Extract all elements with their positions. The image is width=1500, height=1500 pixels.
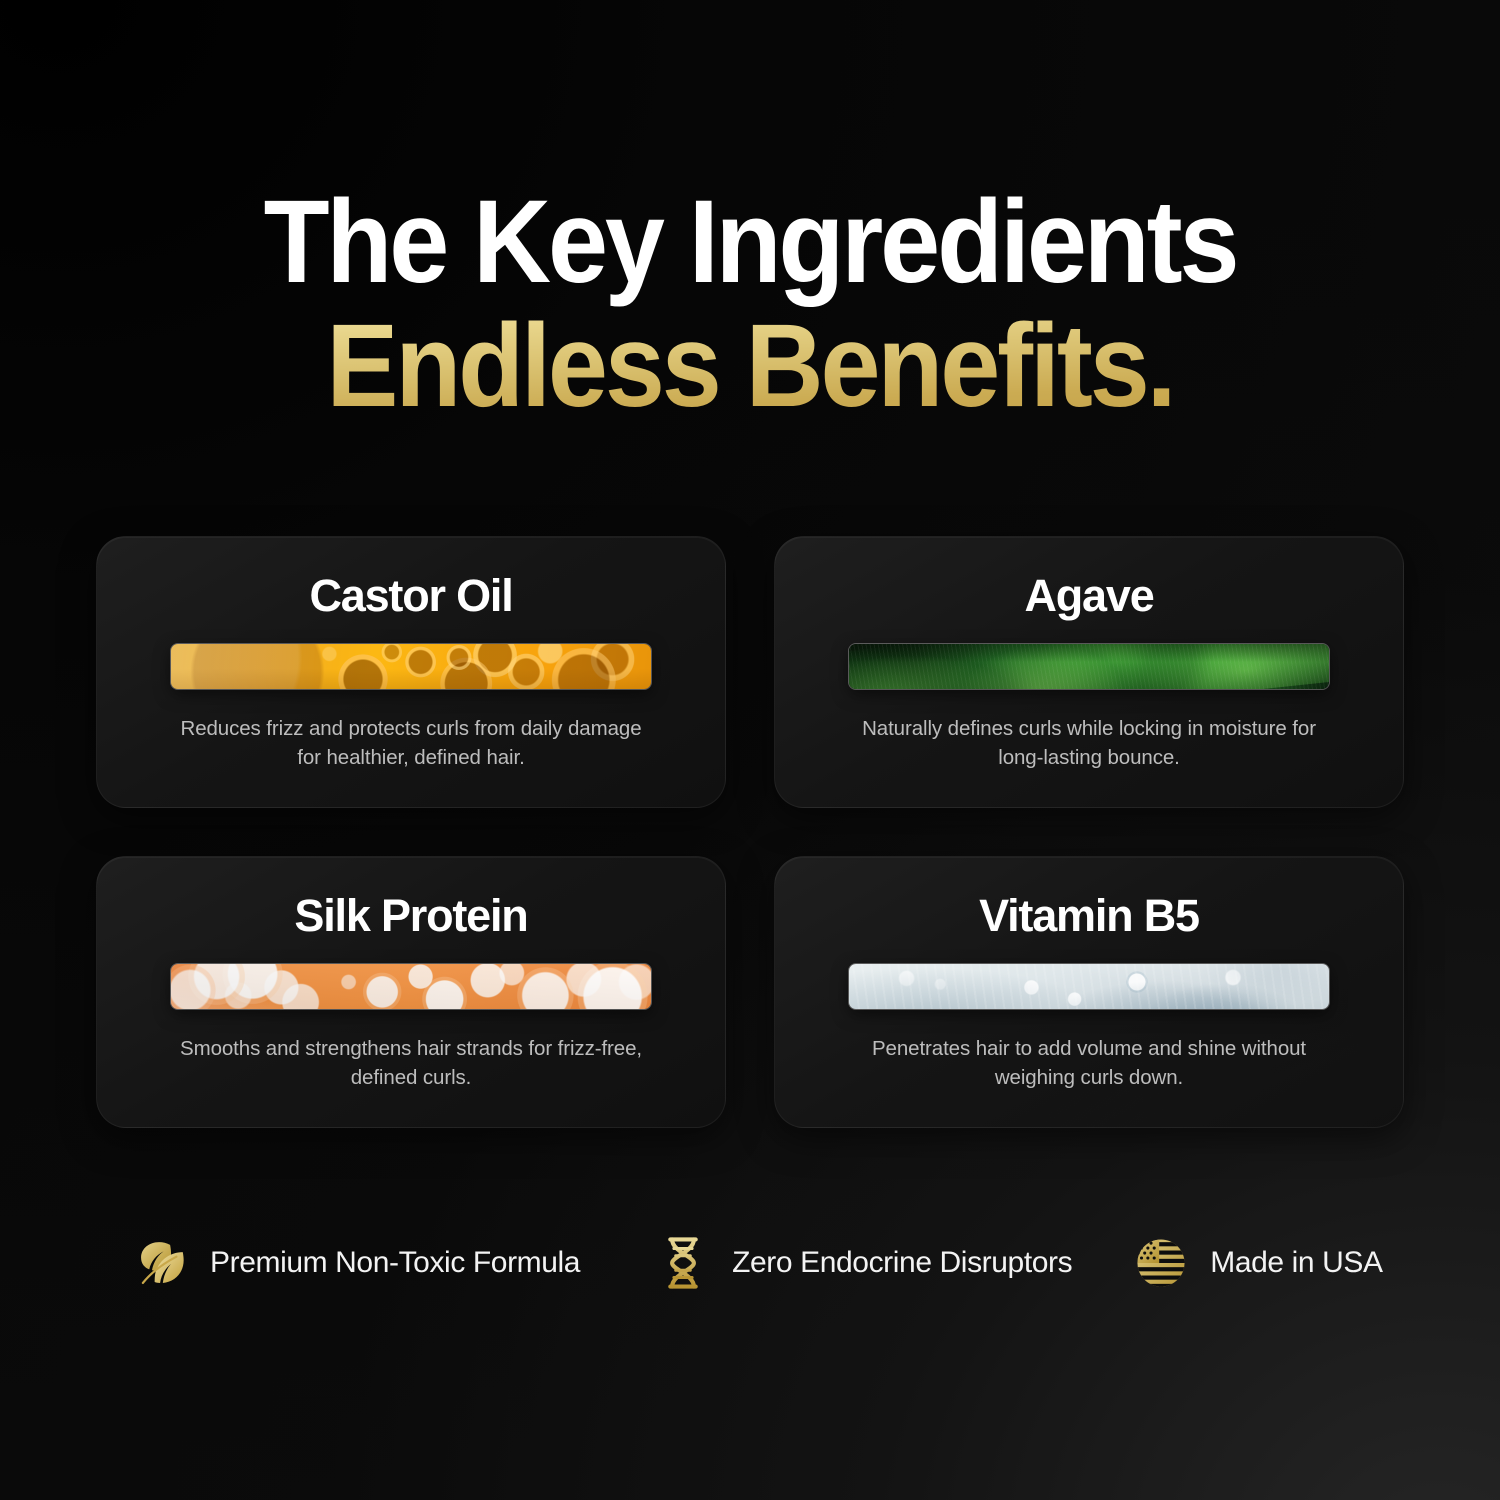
trust-badge-no-endocrine-disruptors: Zero Endocrine Disruptors	[654, 1234, 1072, 1292]
trust-badge-non-toxic: Premium Non-Toxic Formula	[132, 1234, 580, 1292]
ingredient-title: Vitamin B5	[979, 893, 1199, 938]
trust-badge-label: Zero Endocrine Disruptors	[732, 1248, 1072, 1278]
silk-protein-orange-bubbles-strip	[171, 964, 651, 1009]
vitamin-b5-clear-water-strip	[849, 964, 1329, 1009]
ingredient-image-strip	[171, 644, 651, 689]
trust-badge-row: Premium Non-Toxic Formula Zero Endocrine	[96, 1234, 1404, 1292]
page-title: The Key Ingredients Endless Benefits.	[0, 183, 1500, 425]
dna-icon	[654, 1234, 712, 1292]
ingredient-image-strip	[849, 644, 1329, 689]
castor-oil-amber-bubbles-strip	[171, 644, 651, 689]
ingredient-description: Penetrates hair to add volume and shine …	[854, 1034, 1324, 1092]
ingredient-card-grid: Castor Oil Reduces frizz and protects cu…	[96, 536, 1404, 1128]
ingredient-card-silk-protein[interactable]: Silk Protein Smooths and strengthens hai…	[96, 856, 726, 1128]
agave-green-leaves-strip	[849, 644, 1329, 689]
usa-flag-icon	[1132, 1234, 1190, 1292]
headline-line-primary: The Key Ingredients	[64, 183, 1437, 301]
ingredients-infographic: The Key Ingredients Endless Benefits. Ca…	[0, 0, 1500, 1500]
ingredient-image-strip	[171, 964, 651, 1009]
ingredient-title: Agave	[1024, 573, 1153, 618]
leaf-icon	[132, 1234, 190, 1292]
trust-badge-made-in-usa: Made in USA	[1132, 1234, 1382, 1292]
ingredient-title: Silk Protein	[294, 893, 527, 938]
ingredient-card-agave[interactable]: Agave Naturally defines curls while lock…	[774, 536, 1404, 808]
ingredient-image-strip	[849, 964, 1329, 1009]
ingredient-card-castor-oil[interactable]: Castor Oil Reduces frizz and protects cu…	[96, 536, 726, 808]
trust-badge-label: Premium Non-Toxic Formula	[210, 1248, 580, 1278]
ingredient-description: Reduces frizz and protects curls from da…	[176, 714, 646, 772]
headline-line-accent: Endless Benefits.	[64, 307, 1437, 425]
ingredient-card-vitamin-b5[interactable]: Vitamin B5 Penetrates hair to add volume…	[774, 856, 1404, 1128]
ingredient-description: Smooths and strengthens hair strands for…	[176, 1034, 646, 1092]
trust-badge-label: Made in USA	[1210, 1248, 1382, 1278]
ingredient-title: Castor Oil	[309, 573, 512, 618]
ingredient-description: Naturally defines curls while locking in…	[854, 714, 1324, 772]
